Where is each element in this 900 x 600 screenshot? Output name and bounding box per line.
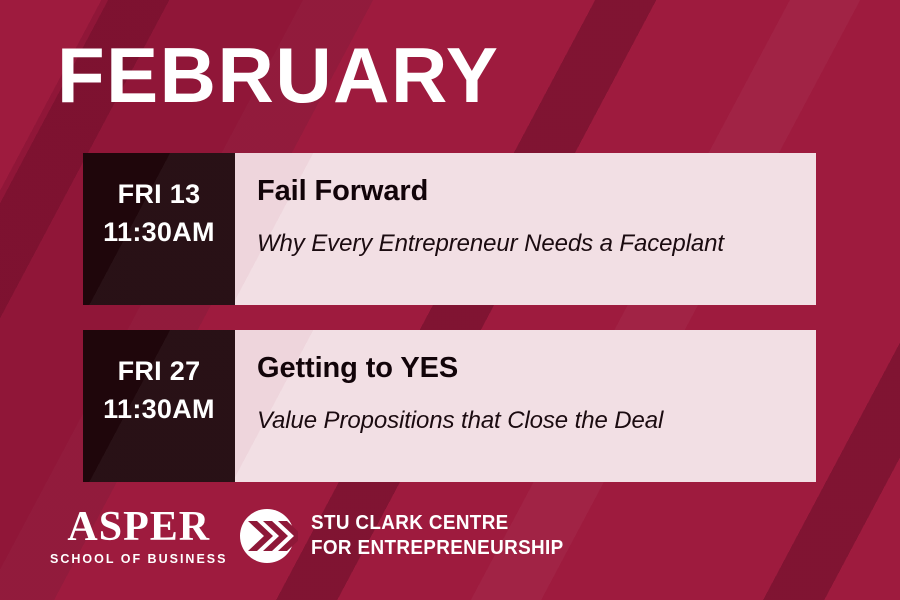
centre-name-line-1: STU CLARK CENTRE: [311, 511, 564, 536]
asper-wordmark: ASPER: [67, 507, 210, 548]
event-title: Fail Forward: [257, 176, 816, 208]
event-poster: FEBRUARY FRI 13 11:30AM Fail Forward Why…: [0, 0, 900, 600]
event-title: Getting to YES: [257, 353, 816, 385]
event-subtitle: Value Propositions that Close the Deal: [257, 407, 816, 436]
event-date-block: FRI 27 11:30AM: [83, 330, 235, 482]
page-title: FEBRUARY: [57, 36, 499, 114]
event-day: FRI 13: [118, 175, 201, 213]
asper-tagline: SCHOOL OF BUSINESS: [50, 553, 227, 566]
event-subtitle: Why Every Entrepreneur Needs a Faceplant: [257, 230, 816, 259]
event-card[interactable]: FRI 13 11:30AM Fail Forward Why Every En…: [83, 153, 816, 305]
event-time: 11:30AM: [103, 213, 215, 251]
event-date-block: FRI 13 11:30AM: [83, 153, 235, 305]
triple-chevron-right-icon: [240, 507, 298, 565]
event-card[interactable]: FRI 27 11:30AM Getting to YES Value Prop…: [83, 330, 816, 482]
event-time: 11:30AM: [103, 390, 215, 428]
event-day: FRI 27: [118, 352, 201, 390]
event-details: Fail Forward Why Every Entrepreneur Need…: [235, 153, 816, 305]
event-details: Getting to YES Value Propositions that C…: [235, 330, 816, 482]
asper-logo: ASPER SCHOOL OF BUSINESS: [50, 507, 227, 566]
stu-clark-centre-name: STU CLARK CENTRE FOR ENTREPRENEURSHIP: [311, 511, 564, 560]
brand-logo-lockup: ASPER SCHOOL OF BUSINESS STU CLARK CENTR…: [50, 505, 586, 567]
centre-name-line-2: FOR ENTREPRENEURSHIP: [311, 536, 564, 561]
